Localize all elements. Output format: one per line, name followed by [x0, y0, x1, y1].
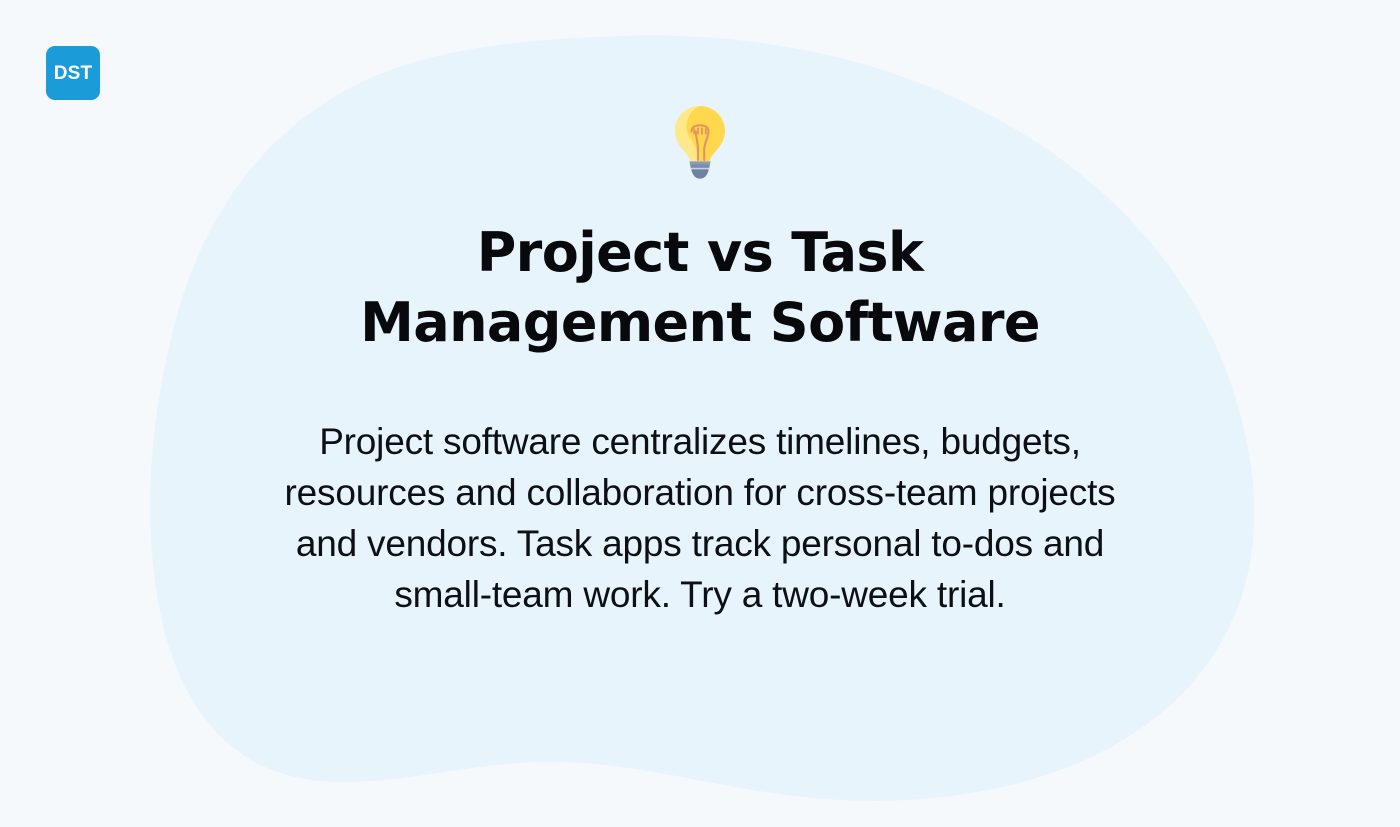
slide-canvas: DST Project vs Task Management Software …: [0, 0, 1400, 827]
bulb-base-tip: [691, 169, 709, 178]
brand-logo-text: DST: [54, 64, 93, 83]
page-title: Project vs Task Management Software: [320, 218, 1080, 358]
page-body-text: Project software centralizes timelines, …: [250, 416, 1150, 620]
bulb-base-band: [690, 164, 709, 167]
hero-content: Project vs Task Management Software Proj…: [170, 104, 1230, 620]
light-bulb-icon: [672, 104, 728, 180]
brand-logo-badge[interactable]: DST: [46, 46, 100, 100]
